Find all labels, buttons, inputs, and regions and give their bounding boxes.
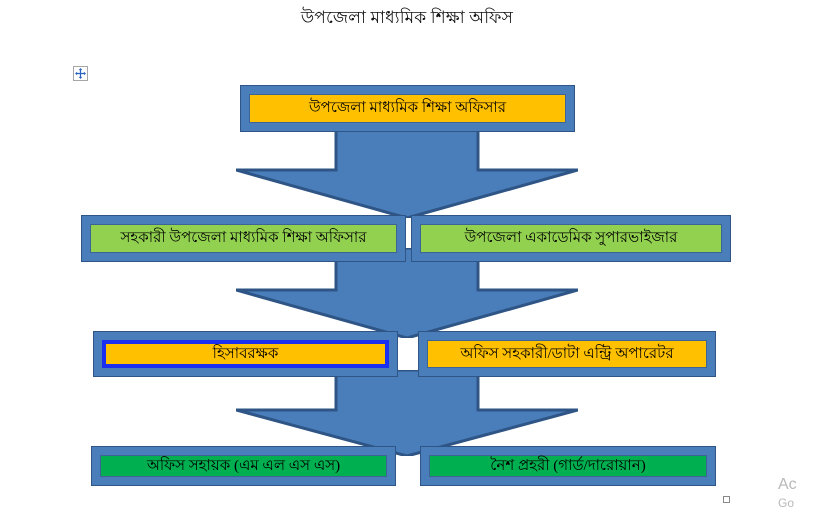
node-night-guard[interactable]: নৈশ প্রহরী (গার্ড/দারোয়ান) [420, 446, 716, 486]
node-plate: অফিস সহকারী/ডাটা এন্ট্রি অপারেটর [427, 340, 707, 368]
node-upazila-secondary-education-officer[interactable]: উপজেলা মাধ্যমিক শিক্ষা অফিসার [240, 85, 575, 132]
node-upazila-academic-supervisor[interactable]: উপজেলা একাডেমিক সুপারভাইজার [411, 215, 731, 262]
node-assistant-upazila-secondary-education-officer[interactable]: সহকারী উপজেলা মাধ্যমিক শিক্ষা অফিসার [81, 215, 406, 262]
node-plate: উপজেলা একাডেমিক সুপারভাইজার [420, 224, 722, 253]
activate-windows-watermark: Ac Go [778, 475, 814, 511]
node-office-assistant-data-entry-operator[interactable]: অফিস সহকারী/ডাটা এন্ট্রি অপারেটর [418, 331, 716, 377]
node-office-support-staff-mlss[interactable]: অফিস সহায়ক (এম এল এস এস) [91, 446, 396, 486]
connector-arrow-level1-to-level2 [236, 128, 578, 218]
page-title: উপজেলা মাধ্যমিক শিক্ষা অফিস [0, 6, 814, 30]
node-label: নৈশ প্রহরী (গার্ড/দারোয়ান) [490, 457, 645, 476]
node-plate: অফিস সহায়ক (এম এল এস এস) [100, 455, 387, 477]
node-plate: নৈশ প্রহরী (গার্ড/দারোয়ান) [429, 455, 707, 477]
connector-arrow-level3-to-level4 [236, 370, 578, 456]
node-label: উপজেলা একাডেমিক সুপারভাইজার [465, 229, 678, 248]
watermark-line-1: Ac [778, 475, 814, 495]
node-plate: উপজেলা মাধ্যমিক শিক্ষা অফিসার [249, 94, 566, 123]
node-label: অফিস সহায়ক (এম এল এস এস) [147, 457, 340, 476]
slide-canvas: উপজেলা মাধ্যমিক শিক্ষা অফিস উপজেলা মাধ্য… [0, 0, 814, 529]
node-plate: হিসাবরক্ষক [102, 340, 389, 368]
node-plate: সহকারী উপজেলা মাধ্যমিক শিক্ষা অফিসার [90, 224, 397, 253]
node-accountant[interactable]: হিসাবরক্ষক [93, 331, 398, 377]
node-label: হিসাবরক্ষক [213, 345, 279, 364]
resize-handle-icon[interactable] [723, 496, 730, 503]
node-label: উপজেলা মাধ্যমিক শিক্ষা অফিসার [309, 99, 506, 118]
move-icon[interactable] [73, 66, 88, 81]
node-label: সহকারী উপজেলা মাধ্যমিক শিক্ষা অফিসার [121, 229, 367, 248]
watermark-line-2: Go [778, 495, 814, 511]
node-label: অফিস সহকারী/ডাটা এন্ট্রি অপারেটর [460, 345, 673, 364]
